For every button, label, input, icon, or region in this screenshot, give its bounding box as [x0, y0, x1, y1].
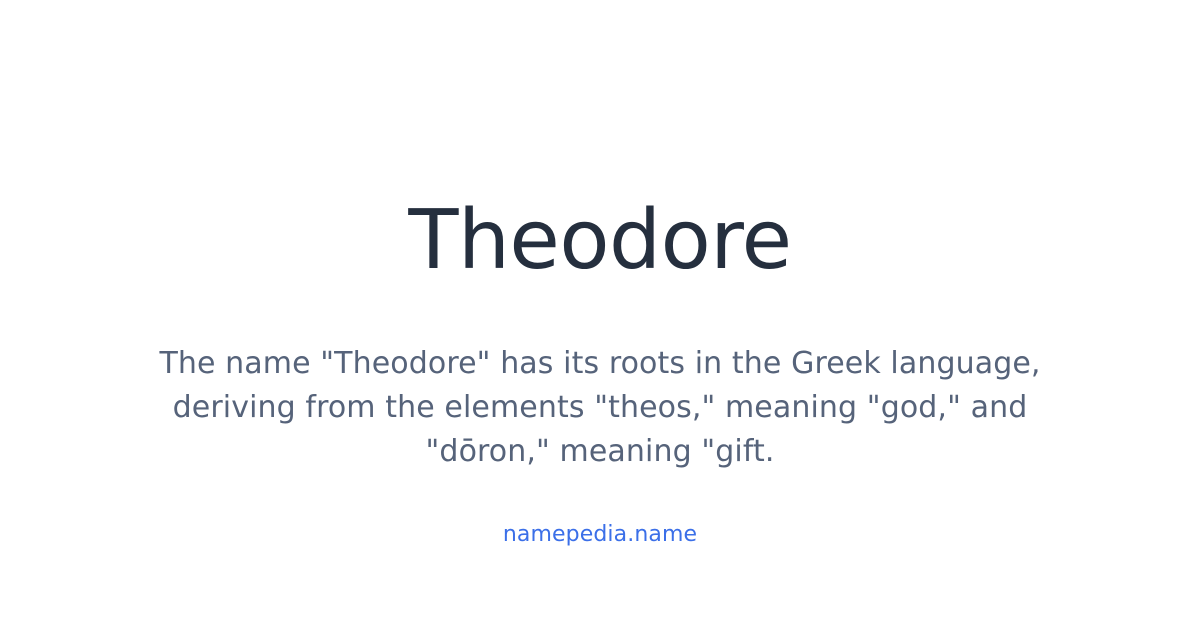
share-card: Theodore The name "Theodore" has its roo…: [0, 0, 1200, 630]
name-description: The name "Theodore" has its roots in the…: [158, 342, 1042, 474]
page-title: Theodore: [0, 193, 1200, 289]
site-link[interactable]: namepedia.name: [0, 521, 1200, 549]
